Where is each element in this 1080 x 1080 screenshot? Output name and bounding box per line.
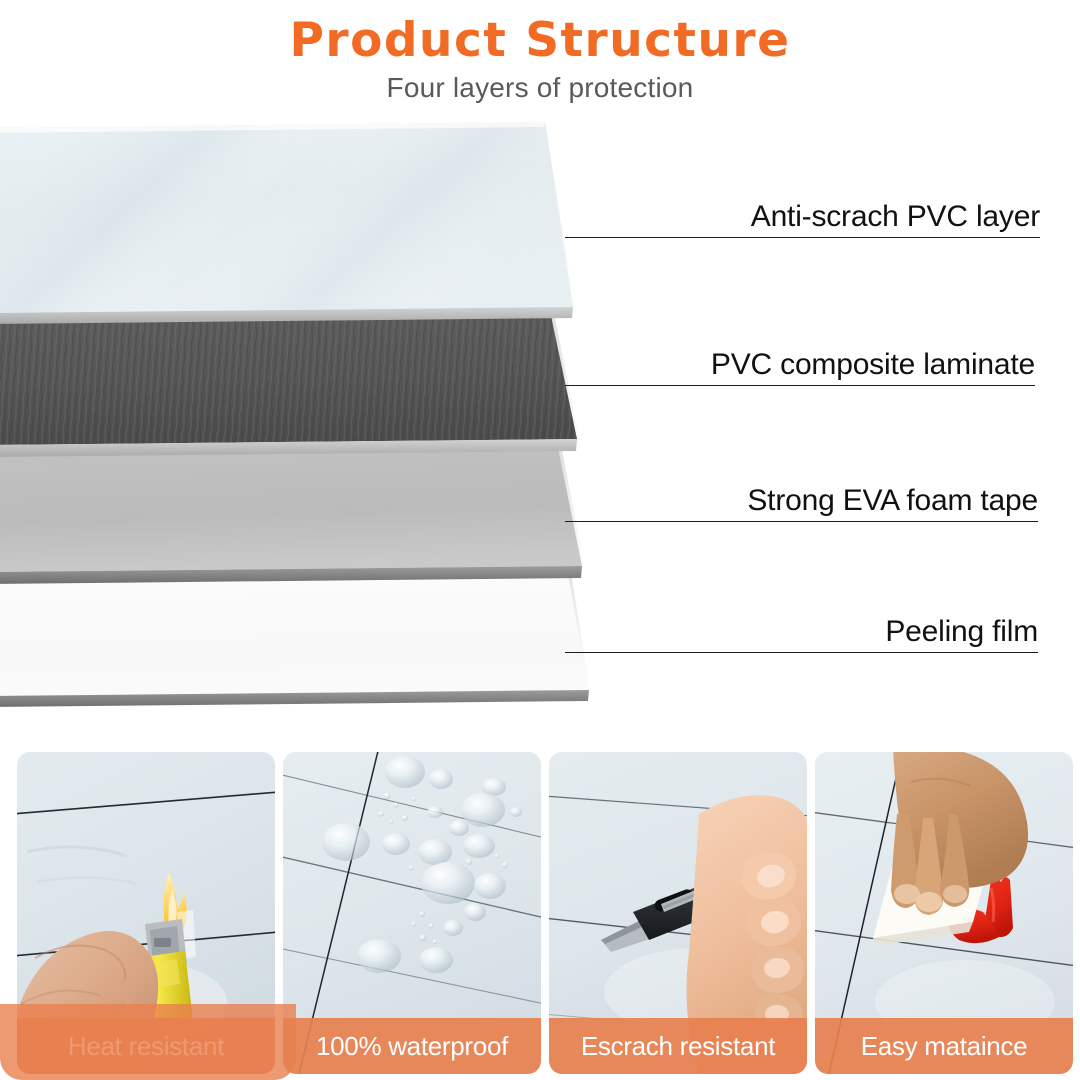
callout-peeling-film: Peeling film [565,607,1038,653]
leader-line [565,385,1035,386]
layer-eva-foam-tape [0,440,585,584]
panel-caption: Easy mataince [815,1018,1073,1074]
panel-caption: 100% waterproof [283,1018,541,1074]
leader-line [565,652,1038,653]
callout-label: PVC composite laminate [711,348,1035,382]
callout-label: Strong EVA foam tape [747,484,1038,518]
caption-bleed-overlay [0,1004,296,1080]
feature-panel-scratch-resistant[interactable]: Escrach resistant [549,752,807,1074]
callout-label: Peeling film [885,615,1038,649]
callout-pvc-composite-laminate: PVC composite laminate [565,340,1035,386]
layer-anti-scratch-pvc [0,122,575,324]
callout-eva-foam-tape: Strong EVA foam tape [565,476,1038,522]
feature-panel-easy-maintenance[interactable]: Easy mataince [815,752,1073,1074]
product-structure-diagram: Anti-scrach PVC layer PVC composite lami… [0,118,1080,733]
leader-line [565,521,1038,522]
page-title: Product Structure [0,0,1080,67]
layer-pvc-composite-laminate [0,308,580,457]
page-subtitle: Four layers of protection [0,67,1080,104]
callout-label: Anti-scrach PVC layer [751,200,1040,234]
callout-anti-scratch-pvc: Anti-scrach PVC layer [565,192,1040,238]
header: Product Structure Four layers of protect… [0,0,1080,118]
leader-line [565,237,1040,238]
panel-caption-text: 100% waterproof [316,1031,508,1062]
feature-panel-waterproof[interactable]: 100% waterproof [283,752,541,1074]
panel-caption-text: Easy mataince [861,1031,1028,1062]
panel-caption-text: Escrach resistant [581,1031,775,1062]
layer-peeling-film [0,567,590,707]
panel-caption: Escrach resistant [549,1018,807,1074]
feature-panels: Heat resistant [0,742,1080,1080]
